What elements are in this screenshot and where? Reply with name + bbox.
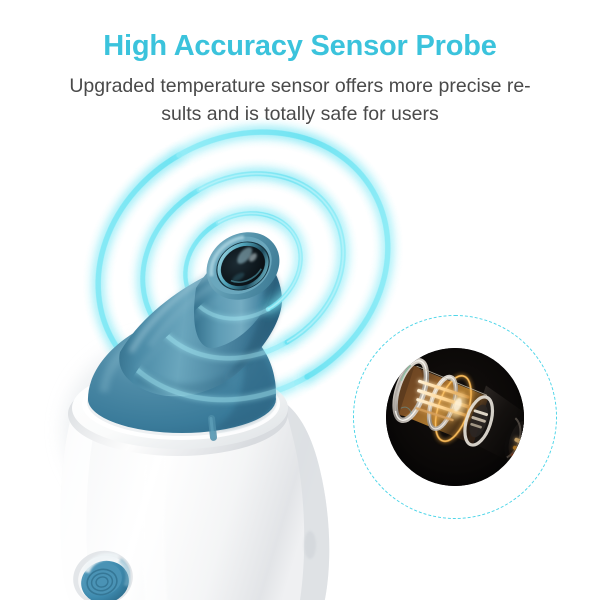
product-feature-slide: High Accuracy Sensor Probe Upgraded temp…: [0, 0, 600, 600]
subtitle-line-2: sults and is totally safe for users: [161, 103, 438, 125]
inset-optics-photo: [386, 348, 524, 486]
sensor-optics-inset: [353, 315, 563, 525]
page-title: High Accuracy Sensor Probe: [0, 0, 600, 62]
page-subtitle: Upgraded temperature sensor offers more …: [65, 62, 535, 128]
body-edge-highlight: [304, 531, 316, 559]
subtitle-line-1: Upgraded temperature sensor offers more …: [69, 75, 530, 97]
text-block: High Accuracy Sensor Probe Upgraded temp…: [0, 0, 600, 129]
